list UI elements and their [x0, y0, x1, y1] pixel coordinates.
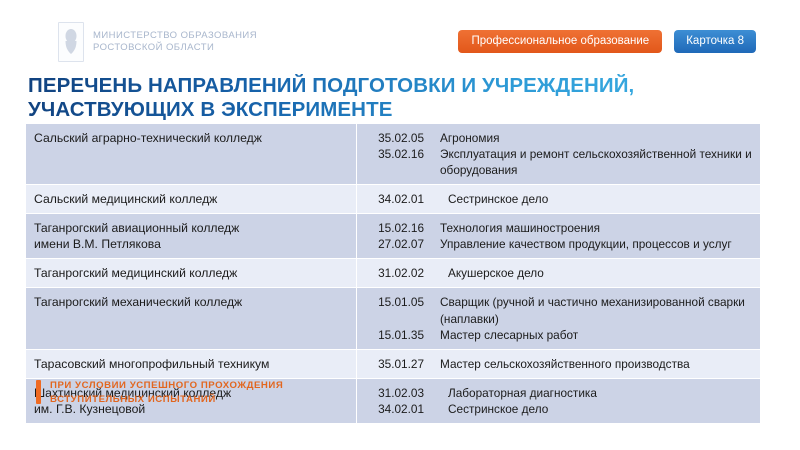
- institution-name-line: Сальский медицинский колледж: [34, 191, 346, 207]
- specialty-code: 34.02.01: [365, 191, 424, 207]
- table-row: Таганрогский механический колледж15.01.0…: [26, 288, 760, 349]
- institution-name-line: Таганрогский механический колледж: [34, 294, 346, 310]
- specialty-code-cell: 35.02.0535.02.16: [356, 124, 430, 184]
- specialty-name-cell: Мастер сельскохозяйственного производств…: [430, 350, 760, 378]
- footnote: ПРИ УСЛОВИИ УСПЕШНОГО ПРОХОЖДЕНИЯ ВСТУПИ…: [36, 379, 283, 406]
- badge-card-number[interactable]: Карточка 8: [674, 30, 756, 53]
- specialty-code-cell: 34.02.01: [356, 185, 430, 213]
- specialty-name: Мастер слесарных работ: [440, 327, 752, 343]
- institution-name-line: Таганрогский авиационный колледж: [34, 220, 346, 236]
- specialty-name: Технология машиностроения: [440, 220, 752, 236]
- specialty-code: 31.02.03: [365, 385, 424, 401]
- page-title: ПЕРЕЧЕНЬ НАПРАВЛЕНИЙ ПОДГОТОВКИ И УЧРЕЖД…: [28, 74, 748, 122]
- ministry-branding: МИНИСТЕРСТВО ОБРАЗОВАНИЯ РОСТОВСКОЙ ОБЛА…: [58, 22, 257, 62]
- institution-name-cell: Таганрогский авиационный колледжимени В.…: [26, 214, 356, 258]
- table-row: Тарасовский многопрофильный техникум35.0…: [26, 350, 760, 379]
- specialty-name-cell: Технология машиностроенияУправление каче…: [430, 214, 760, 258]
- specialty-code-cell: 31.02.02: [356, 259, 430, 287]
- specialty-name: Мастер сельскохозяйственного производств…: [440, 356, 752, 372]
- header-badges: Профессиональное образование Карточка 8: [458, 30, 756, 53]
- table-row: Таганрогский авиационный колледжимени В.…: [26, 214, 760, 259]
- institution-name-line: Таганрогский медицинский колледж: [34, 265, 346, 281]
- specialty-code: 34.02.01: [365, 401, 424, 417]
- ministry-name: МИНИСТЕРСТВО ОБРАЗОВАНИЯ РОСТОВСКОЙ ОБЛА…: [93, 30, 257, 54]
- institution-name-cell: Таганрогский медицинский колледж: [26, 259, 356, 287]
- specialty-name-cell: Акушерское дело: [430, 259, 760, 287]
- specialty-name-cell: Сварщик (ручной и частично механизирован…: [430, 288, 760, 348]
- footnote-accent-bar: [36, 380, 41, 404]
- specialty-code-cell: 31.02.0334.02.01: [356, 379, 430, 423]
- institution-name-line: имени В.М. Петлякова: [34, 236, 346, 252]
- institution-name-line: Тарасовский многопрофильный техникум: [34, 356, 346, 372]
- specialty-code-cell: 15.01.0515.01.35: [356, 288, 430, 348]
- slide-header: МИНИСТЕРСТВО ОБРАЗОВАНИЯ РОСТОВСКОЙ ОБЛА…: [0, 0, 800, 70]
- specialty-code: 31.02.02: [365, 265, 424, 281]
- specialty-code: 35.02.05: [365, 130, 424, 146]
- specialty-name: Управление качеством продукции, процессо…: [440, 236, 752, 252]
- specialty-name: Сестринское дело: [448, 401, 752, 417]
- footnote-line-2: ВСТУПИТЕЛЬНЫХ ИСПЫТАНИЙ: [50, 393, 283, 407]
- coat-of-arms-icon: [58, 22, 84, 62]
- table-row: Таганрогский медицинский колледж31.02.02…: [26, 259, 760, 288]
- specialty-code: 27.02.07: [365, 236, 424, 252]
- specialty-name-cell: Лабораторная диагностикаСестринское дело: [430, 379, 760, 423]
- page-title-line-2: УЧАСТВУЮЩИХ В ЭКСПЕРИМЕНТЕ: [28, 98, 748, 122]
- specialty-code: 35.02.16: [365, 146, 424, 178]
- specialty-name: Сестринское дело: [448, 191, 752, 207]
- ministry-line-1: МИНИСТЕРСТВО ОБРАЗОВАНИЯ: [93, 30, 257, 42]
- specialty-name-cell: Сестринское дело: [430, 185, 760, 213]
- specialty-code: 35.01.27: [365, 356, 424, 372]
- specialty-name: Акушерское дело: [448, 265, 752, 281]
- specialty-code: 15.01.05: [365, 294, 424, 326]
- badge-category[interactable]: Профессиональное образование: [458, 30, 662, 53]
- specialty-code: 15.02.16: [365, 220, 424, 236]
- specialty-code: 15.01.35: [365, 327, 424, 343]
- ministry-line-2: РОСТОВСКОЙ ОБЛАСТИ: [93, 42, 257, 54]
- specialty-name: Сварщик (ручной и частично механизирован…: [440, 294, 752, 326]
- institution-name-cell: Тарасовский многопрофильный техникум: [26, 350, 356, 378]
- institution-name-cell: Сальский медицинский колледж: [26, 185, 356, 213]
- specialty-name: Эксплуатация и ремонт сельскохозяйственн…: [440, 146, 752, 178]
- table-row: Сальский аграрно-технический колледж35.0…: [26, 124, 760, 185]
- slide-root: МИНИСТЕРСТВО ОБРАЗОВАНИЯ РОСТОВСКОЙ ОБЛА…: [0, 0, 800, 450]
- page-title-line-1: ПЕРЕЧЕНЬ НАПРАВЛЕНИЙ ПОДГОТОВКИ И УЧРЕЖД…: [28, 74, 748, 98]
- institution-name-line: Сальский аграрно-технический колледж: [34, 130, 346, 146]
- table-row: Сальский медицинский колледж34.02.01Сест…: [26, 185, 760, 214]
- specialty-name: Агрономия: [440, 130, 752, 146]
- specialty-name-cell: АгрономияЭксплуатация и ремонт сельскохо…: [430, 124, 760, 184]
- specialty-name: Лабораторная диагностика: [448, 385, 752, 401]
- specialty-code-cell: 15.02.1627.02.07: [356, 214, 430, 258]
- footnote-text: ПРИ УСЛОВИИ УСПЕШНОГО ПРОХОЖДЕНИЯ ВСТУПИ…: [50, 379, 283, 406]
- footnote-line-1: ПРИ УСЛОВИИ УСПЕШНОГО ПРОХОЖДЕНИЯ: [50, 379, 283, 393]
- institution-name-cell: Сальский аграрно-технический колледж: [26, 124, 356, 152]
- specialty-code-cell: 35.01.27: [356, 350, 430, 378]
- institution-name-cell: Таганрогский механический колледж: [26, 288, 356, 316]
